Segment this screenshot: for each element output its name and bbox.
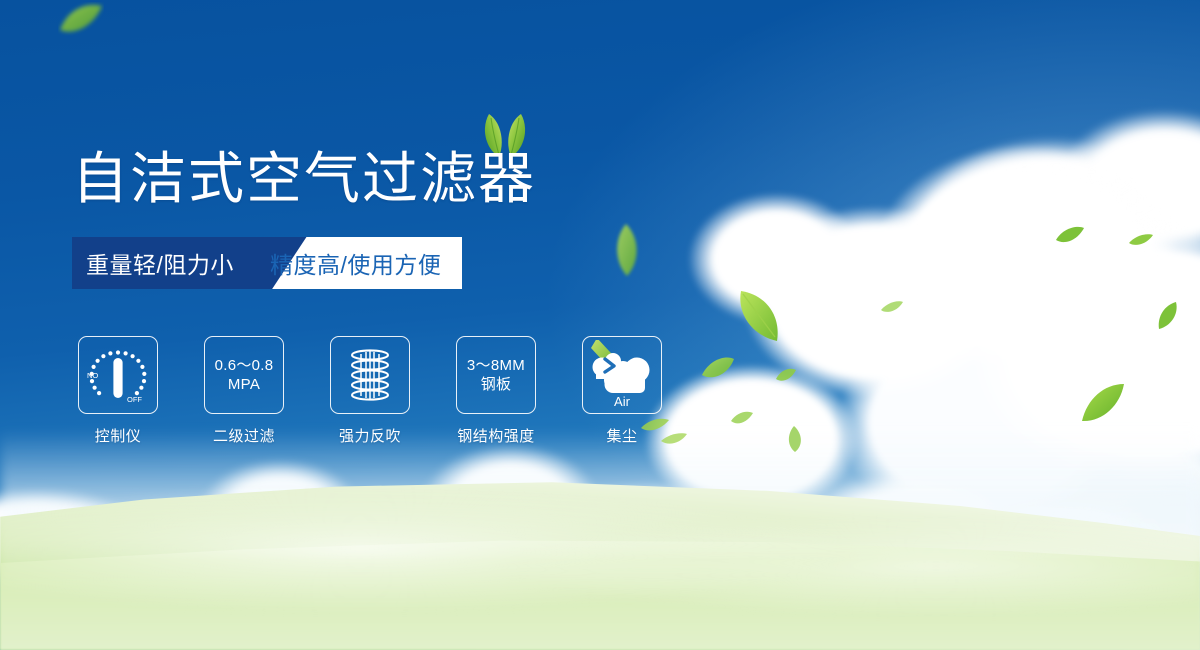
- gauge-no-label: NO: [87, 371, 98, 380]
- feature-label: 二级过滤: [213, 425, 275, 446]
- feature-label: 钢结构强度: [457, 425, 535, 446]
- steel-plate-line2: 钢板: [481, 375, 512, 394]
- tagline-right-text: 精度高/使用方便: [270, 237, 441, 289]
- filter-cartridge-icon: [339, 344, 401, 406]
- gauge-off-label: OFF: [127, 395, 142, 404]
- feature-icon-box: NO OFF: [78, 336, 158, 414]
- feature-item-secondary-filter[interactable]: 0.6～0.8 MPA 二级过滤: [204, 336, 284, 446]
- pressure-value-line2: MPA: [228, 375, 260, 394]
- feature-icon-box: Air: [582, 336, 662, 414]
- page-title: 自洁式空气过滤器: [72, 146, 536, 212]
- air-cloud-icon: Air: [585, 340, 659, 412]
- tagline-banner: 重量轻/阻力小 精度高/使用方便: [72, 237, 462, 289]
- feature-item-backblow[interactable]: 强力反吹: [330, 336, 410, 446]
- feature-label: 集尘: [606, 425, 637, 446]
- pressure-value-line1: 0.6～0.8: [215, 356, 274, 375]
- feature-icon-box: [330, 336, 410, 414]
- feature-item-steel-strength[interactable]: 3～8MM 钢板 钢结构强度: [456, 336, 536, 446]
- feature-label: 强力反吹: [339, 425, 401, 446]
- feature-list: NO OFF 控制仪 0.6～0.8 MPA 二级过滤: [78, 336, 662, 446]
- feature-label: 控制仪: [95, 425, 142, 446]
- tagline-left-text: 重量轻/阻力小: [86, 237, 234, 289]
- feature-item-controller[interactable]: NO OFF 控制仪: [78, 336, 158, 446]
- feature-item-dust-collection[interactable]: Air 集尘: [582, 336, 662, 446]
- feature-icon-box: 0.6～0.8 MPA: [204, 336, 284, 414]
- product-banner: 自洁式空气过滤器 重量轻/阻力小 精度高/使用方便: [0, 0, 1200, 650]
- steel-plate-line1: 3～8MM: [467, 356, 525, 375]
- air-label: Air: [614, 394, 631, 409]
- gauge-dial-icon: NO OFF: [83, 342, 153, 408]
- feature-icon-box: 3～8MM 钢板: [456, 336, 536, 414]
